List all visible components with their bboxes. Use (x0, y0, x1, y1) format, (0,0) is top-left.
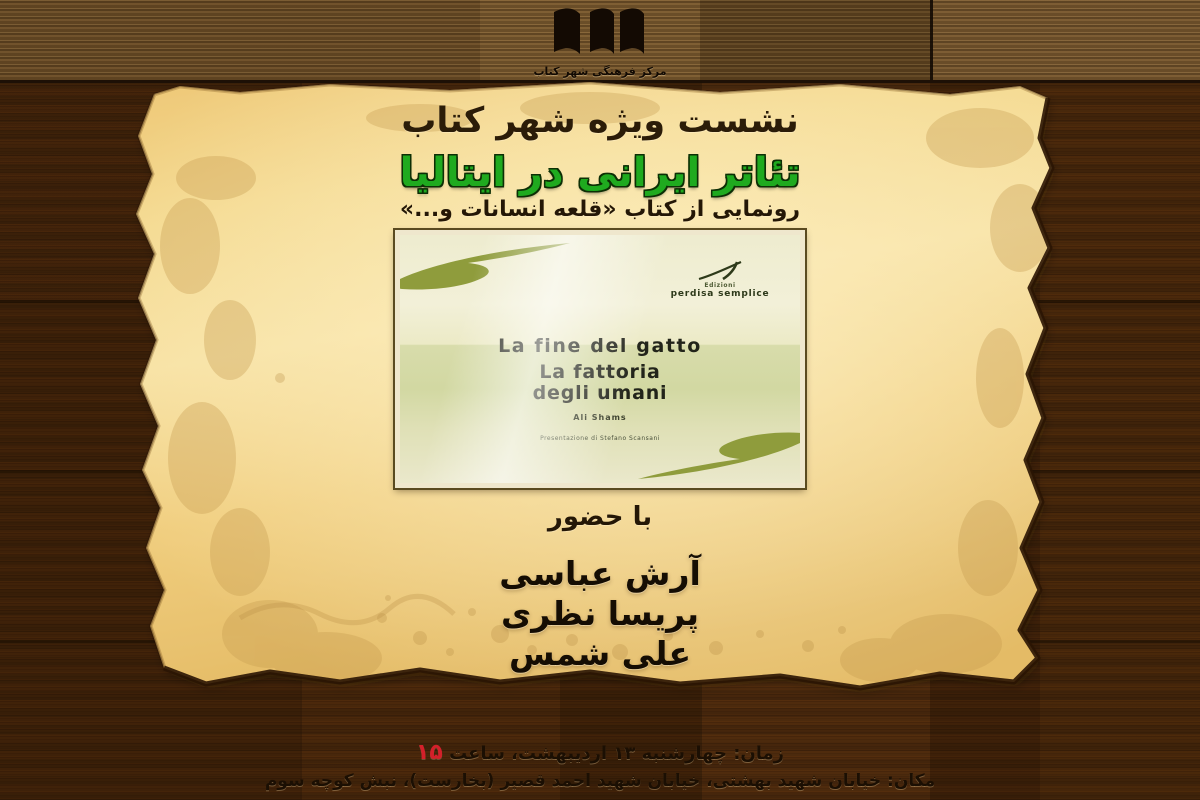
poster-main-title: تئاتر ایرانی در ایتالیا (160, 151, 1040, 195)
poster-footer: زمان: چهارشنبه ۱۳ اردیبهشت، ساعت ۱۵ مکان… (0, 736, 1200, 795)
guests-list: آرش عباسی پریسا نظری علی شمس (160, 554, 1040, 675)
guest-name: آرش عباسی (160, 554, 1040, 594)
organizer-logo: مرکز فرهنگی شهر کتاب (490, 4, 710, 78)
wood-seam-vertical-top (930, 0, 933, 80)
torn-paper-sheet: نشست ویژه شهر کتاب تئاتر ایرانی در ایتال… (120, 78, 1080, 708)
guest-name: علی شمس (160, 634, 1040, 674)
guest-name: پریسا نظری (160, 594, 1040, 634)
guests-label: با حضور (160, 502, 1040, 532)
book-cover-sheen (400, 235, 800, 483)
poster-canvas: مرکز فرهنگی شهر کتاب (0, 0, 1200, 800)
event-time-value: ۱۵ (416, 740, 443, 765)
event-time-prefix: زمان: چهارشنبه ۱۳ اردیبهشت، ساعت (443, 743, 784, 764)
event-place-line: مکان: خیابان شهید بهشتی، خیابان شهید احم… (0, 769, 1200, 795)
poster-body: نشست ویژه شهر کتاب تئاتر ایرانی در ایتال… (160, 88, 1040, 698)
poster-subtitle: رونمایی از کتاب «قلعه انسانات و...» (160, 197, 1040, 222)
three-open-books-icon (490, 4, 710, 64)
book-cover-image: Edizioni perdisa semplice La fine del ga… (395, 230, 805, 488)
book-cover-canvas: Edizioni perdisa semplice La fine del ga… (400, 235, 800, 483)
organizer-logo-caption: مرکز فرهنگی شهر کتاب (490, 65, 710, 78)
event-time-line: زمان: چهارشنبه ۱۳ اردیبهشت، ساعت ۱۵ (0, 736, 1200, 769)
poster-kicker: نشست ویژه شهر کتاب (160, 88, 1040, 141)
